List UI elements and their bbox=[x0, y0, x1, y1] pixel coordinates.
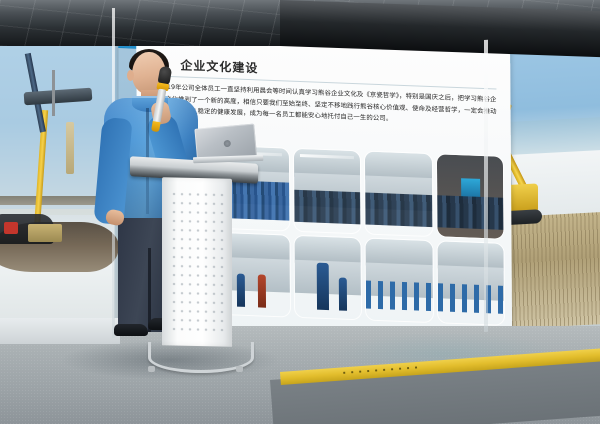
speaker-ear bbox=[127, 70, 134, 81]
stage-edge-studs bbox=[340, 366, 420, 375]
wall-panel-seam-right bbox=[484, 40, 488, 332]
slide-photo bbox=[365, 151, 432, 235]
slide-photo bbox=[437, 154, 504, 238]
lectern-foot bbox=[148, 366, 155, 372]
slide-photo bbox=[294, 149, 361, 233]
slide-photo bbox=[366, 238, 433, 322]
lectern bbox=[136, 160, 252, 372]
slide-photo bbox=[437, 241, 504, 325]
lectern-foot bbox=[236, 366, 243, 372]
crane-hook-line bbox=[52, 70, 55, 116]
slide-photo bbox=[294, 235, 361, 319]
lectern-perforation-pattern bbox=[170, 189, 224, 336]
panel-left-red-marker bbox=[4, 222, 18, 234]
laptop[interactable] bbox=[194, 123, 261, 168]
mic-ring-lower bbox=[151, 121, 161, 132]
screenshot-root: ⟩⟨ XIONGGU 熊谷2019公司总结和2020公司计划 投屏码:55398… bbox=[0, 0, 600, 424]
lectern-column bbox=[162, 177, 232, 346]
laptop-base bbox=[193, 155, 264, 163]
panel-left-yellow-equipment bbox=[28, 224, 62, 242]
slide-paragraph: 2019年公司全体员工一直坚持利用晨会等时间认真学习熊谷企业文化及《京瓷哲学》，… bbox=[158, 82, 496, 130]
pipe-section bbox=[66, 122, 74, 174]
ceiling bbox=[0, 0, 600, 46]
